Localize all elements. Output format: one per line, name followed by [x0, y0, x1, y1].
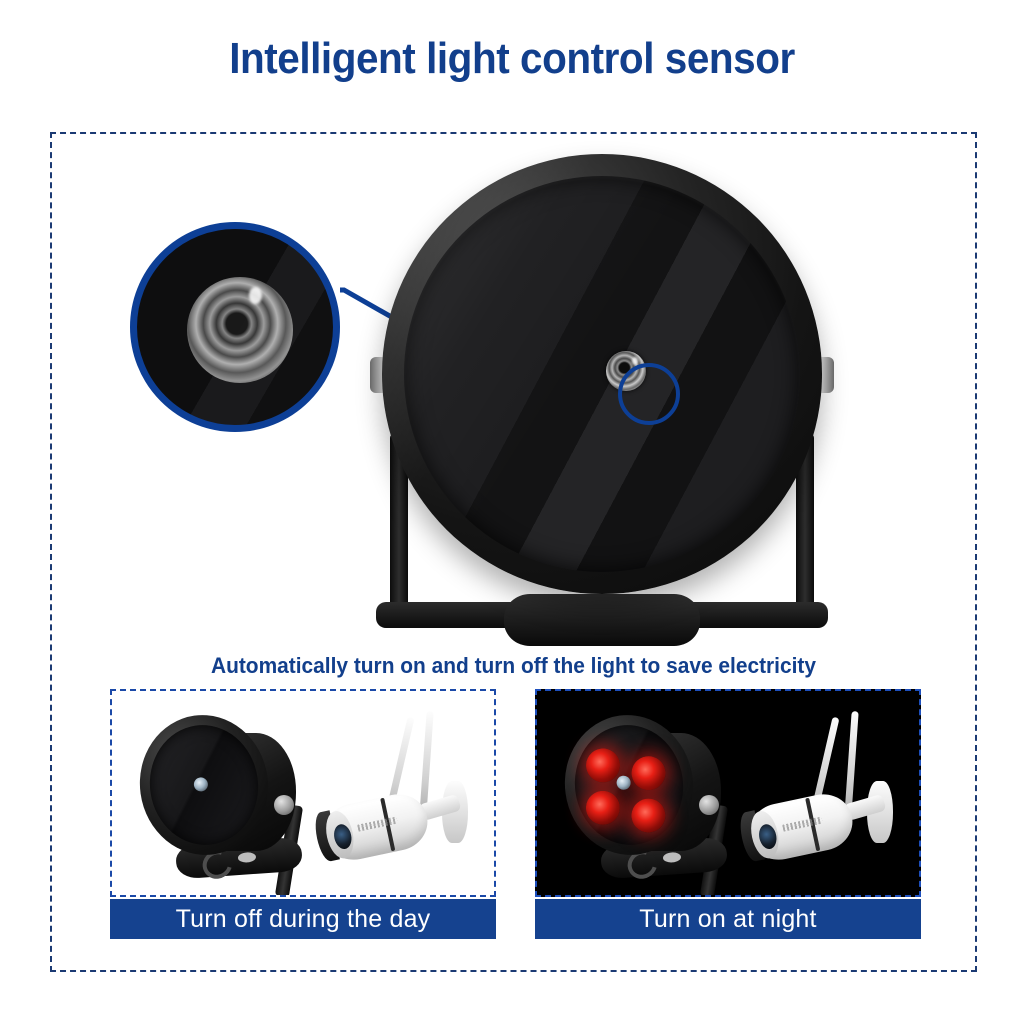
panel-night: Turn on at night — [535, 689, 921, 939]
panel-day-caption: Turn off during the day — [110, 899, 496, 939]
illuminator-night-glass — [567, 718, 691, 852]
bullet-camera-night — [727, 707, 907, 887]
magnified-photocell-lens-icon — [187, 277, 293, 383]
camera-night-lens-icon — [757, 823, 779, 851]
camera-lens-icon — [332, 823, 354, 851]
panel-day-image — [110, 689, 496, 897]
sensor-highlight-ring — [618, 363, 680, 425]
illuminator-night — [557, 709, 747, 884]
camera-body — [319, 789, 432, 865]
panel-night-caption: Turn on at night — [535, 899, 921, 939]
sensor-glass-face — [404, 176, 800, 572]
camera-night-body — [744, 789, 857, 865]
bracket-foot — [504, 594, 700, 646]
camera-antenna-right-icon — [420, 711, 434, 807]
illuminator-day-side-screw-icon — [274, 795, 294, 815]
subtitle-text: Automatically turn on and turn off the l… — [75, 653, 952, 679]
panel-night-image — [535, 689, 921, 897]
bullet-camera-day — [302, 707, 482, 887]
comparison-panels: Turn off during the day — [52, 689, 979, 949]
main-sensor-unit — [382, 154, 822, 594]
illuminator-night-side-screw-icon — [699, 795, 719, 815]
ir-led-2-icon — [629, 754, 667, 792]
ir-led-4-icon — [629, 796, 667, 834]
illuminator-day-photocell-icon — [193, 777, 209, 793]
illuminator-day-glass — [142, 718, 266, 852]
product-infographic: Intelligent light control sensor — [0, 0, 1024, 1024]
camera-brand-logo — [357, 817, 398, 832]
hero-product-section — [52, 134, 979, 654]
illuminator-night-screw-hole-icon — [663, 852, 682, 863]
camera-night-brand-logo — [782, 817, 823, 832]
ir-led-3-icon — [584, 789, 622, 827]
page-title: Intelligent light control sensor — [41, 34, 983, 84]
camera-night-antenna-right-icon — [845, 711, 859, 807]
lens-glint-icon — [632, 357, 638, 365]
panel-day: Turn off during the day — [110, 689, 496, 939]
content-frame: Automatically turn on and turn off the l… — [50, 132, 977, 972]
illuminator-day — [132, 709, 322, 884]
sensor-magnifier-callout — [130, 222, 340, 432]
illuminator-day-screw-hole-icon — [238, 852, 257, 863]
illuminator-night-photocell-icon — [616, 775, 632, 791]
lens-highlight-icon — [249, 287, 262, 304]
